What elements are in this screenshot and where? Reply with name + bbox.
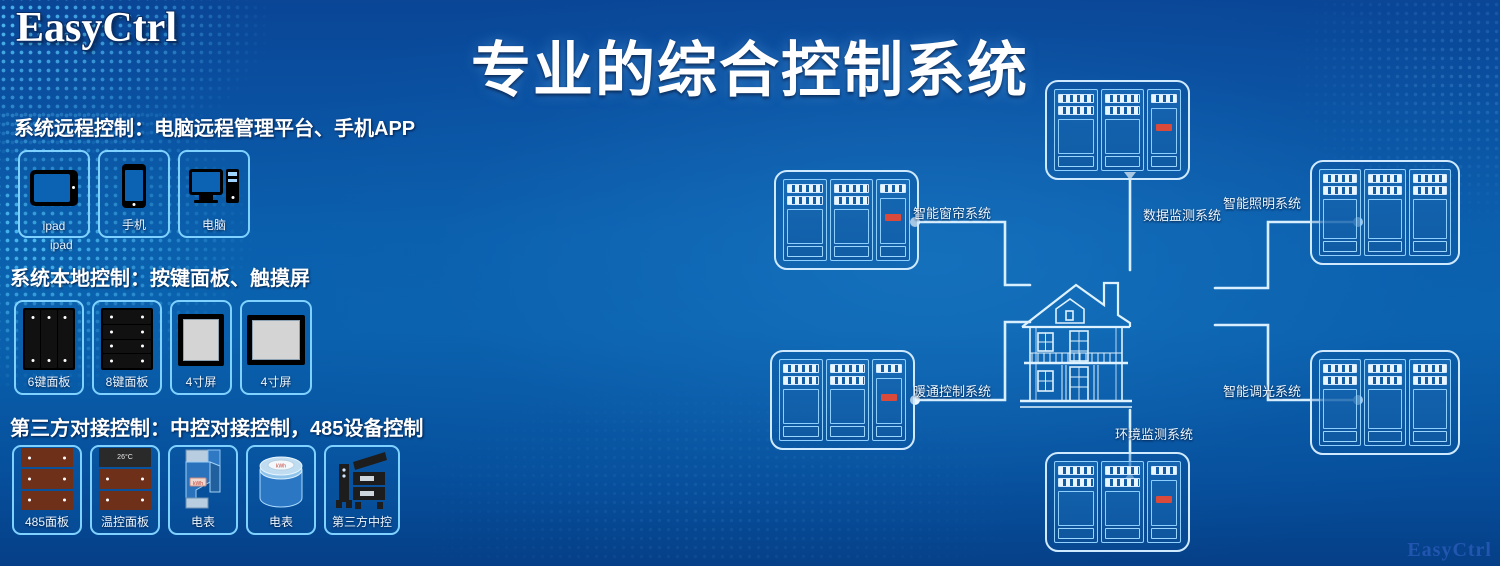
node-label-hvac: 暖通控制系统 <box>913 381 991 400</box>
device-card-485-panel[interactable]: 485面板 <box>12 445 82 535</box>
din-meter-glyph: kWh <box>180 448 226 510</box>
rs485-panel-icon <box>19 448 75 510</box>
module-unit <box>1101 89 1145 171</box>
device-card-round-meter[interactable]: kWh 电表 <box>246 445 316 535</box>
module-unit <box>872 359 906 441</box>
controller-module-lighting[interactable] <box>1310 160 1460 265</box>
poster-canvas: EasyCtrl 专业的综合控制系统 系统远程控制：电脑远程管理平台、手机APP… <box>0 0 1500 566</box>
device-label-4inch-screen-b: 4寸屏 <box>261 373 292 390</box>
device-card-computer[interactable]: 电脑 <box>178 150 250 238</box>
node-label-data: 数据监测系统 <box>1143 205 1221 224</box>
svg-text:kWh: kWh <box>276 464 286 470</box>
module-unit <box>1409 169 1451 256</box>
system-topology-diagram: 智能窗帘系统 数据监测系统 智能照明系统 暖通控制系统 环境监测系统 智能调光系… <box>760 60 1500 566</box>
third-party-controller-icon <box>331 450 393 510</box>
device-label-ipad: ipad <box>43 219 66 233</box>
house-illustration <box>1020 283 1132 407</box>
module-unit <box>1147 461 1181 543</box>
round-meter-icon: kWh <box>253 452 309 510</box>
four-inch-screen-icon <box>177 309 225 370</box>
eight-key-panel-icon <box>99 308 155 370</box>
thirdparty-control-device-row: 485面板 26°C 温控面板 <box>12 445 400 535</box>
device-label-din-meter: 电表 <box>191 513 215 530</box>
device-label-8key-panel: 8键面板 <box>106 373 149 390</box>
din-meter-icon: kWh <box>175 448 231 510</box>
svg-text:kWh: kWh <box>193 481 203 487</box>
device-label-phone: 手机 <box>122 216 146 233</box>
controller-module-dimming[interactable] <box>1310 350 1460 455</box>
brand-logo: EasyCtrl <box>16 4 177 52</box>
four-inch-screen-wide-icon <box>247 309 305 370</box>
local-control-device-row: 6键面板 8键面板 4寸屏 <box>14 300 312 395</box>
device-label-485-panel: 485面板 <box>25 513 69 530</box>
node-label-lighting: 智能照明系统 <box>1223 193 1301 212</box>
module-unit <box>1147 89 1181 171</box>
module-unit <box>1319 169 1361 256</box>
device-label-computer: 电脑 <box>202 216 226 233</box>
module-unit <box>1409 359 1451 446</box>
module-unit <box>1319 359 1361 446</box>
node-label-curtain: 智能窗帘系统 <box>913 203 991 222</box>
controller-module-environment[interactable] <box>1045 452 1190 552</box>
six-key-panel-icon <box>21 308 77 370</box>
node-label-environment: 环境监测系统 <box>1115 424 1193 443</box>
device-card-6key-panel[interactable]: 6键面板 <box>14 300 84 395</box>
thermostat-display-value: 26°C <box>117 454 133 461</box>
controller-module-hvac[interactable] <box>770 350 915 450</box>
module-unit <box>830 179 874 261</box>
module-unit <box>783 179 827 261</box>
device-label-thermostat-panel: 温控面板 <box>101 513 149 530</box>
watermark-logo: EasyCtrl <box>1407 539 1492 562</box>
device-card-ipad[interactable]: ipad <box>18 150 90 238</box>
device-label-6key-panel: 6键面板 <box>28 373 71 390</box>
module-unit <box>1364 169 1406 256</box>
device-card-din-meter[interactable]: kWh 电表 <box>168 445 238 535</box>
controller-module-data[interactable] <box>1045 80 1190 180</box>
module-unit <box>1054 89 1098 171</box>
thermostat-panel-icon: 26°C <box>97 448 153 510</box>
module-unit <box>1054 461 1098 543</box>
device-label-round-meter: 电表 <box>269 513 293 530</box>
node-label-dimming: 智能调光系统 <box>1223 381 1301 400</box>
device-card-8key-panel[interactable]: 8键面板 <box>92 300 162 395</box>
section-heading-thirdparty-control: 第三方对接控制：中控对接控制，485设备控制 <box>10 412 423 441</box>
desktop-computer-icon <box>185 159 243 213</box>
device-card-thermostat-panel[interactable]: 26°C 温控面板 <box>90 445 160 535</box>
module-unit <box>1101 461 1145 543</box>
round-meter-glyph: kWh <box>254 452 308 510</box>
device-card-phone[interactable]: 手机 <box>98 150 170 238</box>
smartphone-icon <box>105 159 163 213</box>
section-heading-remote-control: 系统远程控制：电脑远程管理平台、手机APP <box>14 112 415 141</box>
device-label-thirdparty-controller: 第三方中控 <box>332 513 392 530</box>
controller-module-curtain[interactable] <box>774 170 919 270</box>
third-party-controller-glyph <box>333 450 391 510</box>
device-card-4inch-screen-a[interactable]: 4寸屏 <box>170 300 232 395</box>
module-unit <box>779 359 823 441</box>
tablet-icon <box>25 159 83 216</box>
remote-control-device-row: ipad 手机 <box>18 150 250 238</box>
device-label-4inch-screen-a: 4寸屏 <box>186 373 217 390</box>
module-unit <box>1364 359 1406 446</box>
module-unit <box>876 179 910 261</box>
device-card-4inch-screen-b[interactable]: 4寸屏 <box>240 300 312 395</box>
device-card-thirdparty-controller[interactable]: 第三方中控 <box>324 445 400 535</box>
module-unit <box>826 359 870 441</box>
section-heading-local-control: 系统本地控制：按键面板、触摸屏 <box>10 262 310 291</box>
ipad-sublabel: ipad <box>50 238 73 252</box>
